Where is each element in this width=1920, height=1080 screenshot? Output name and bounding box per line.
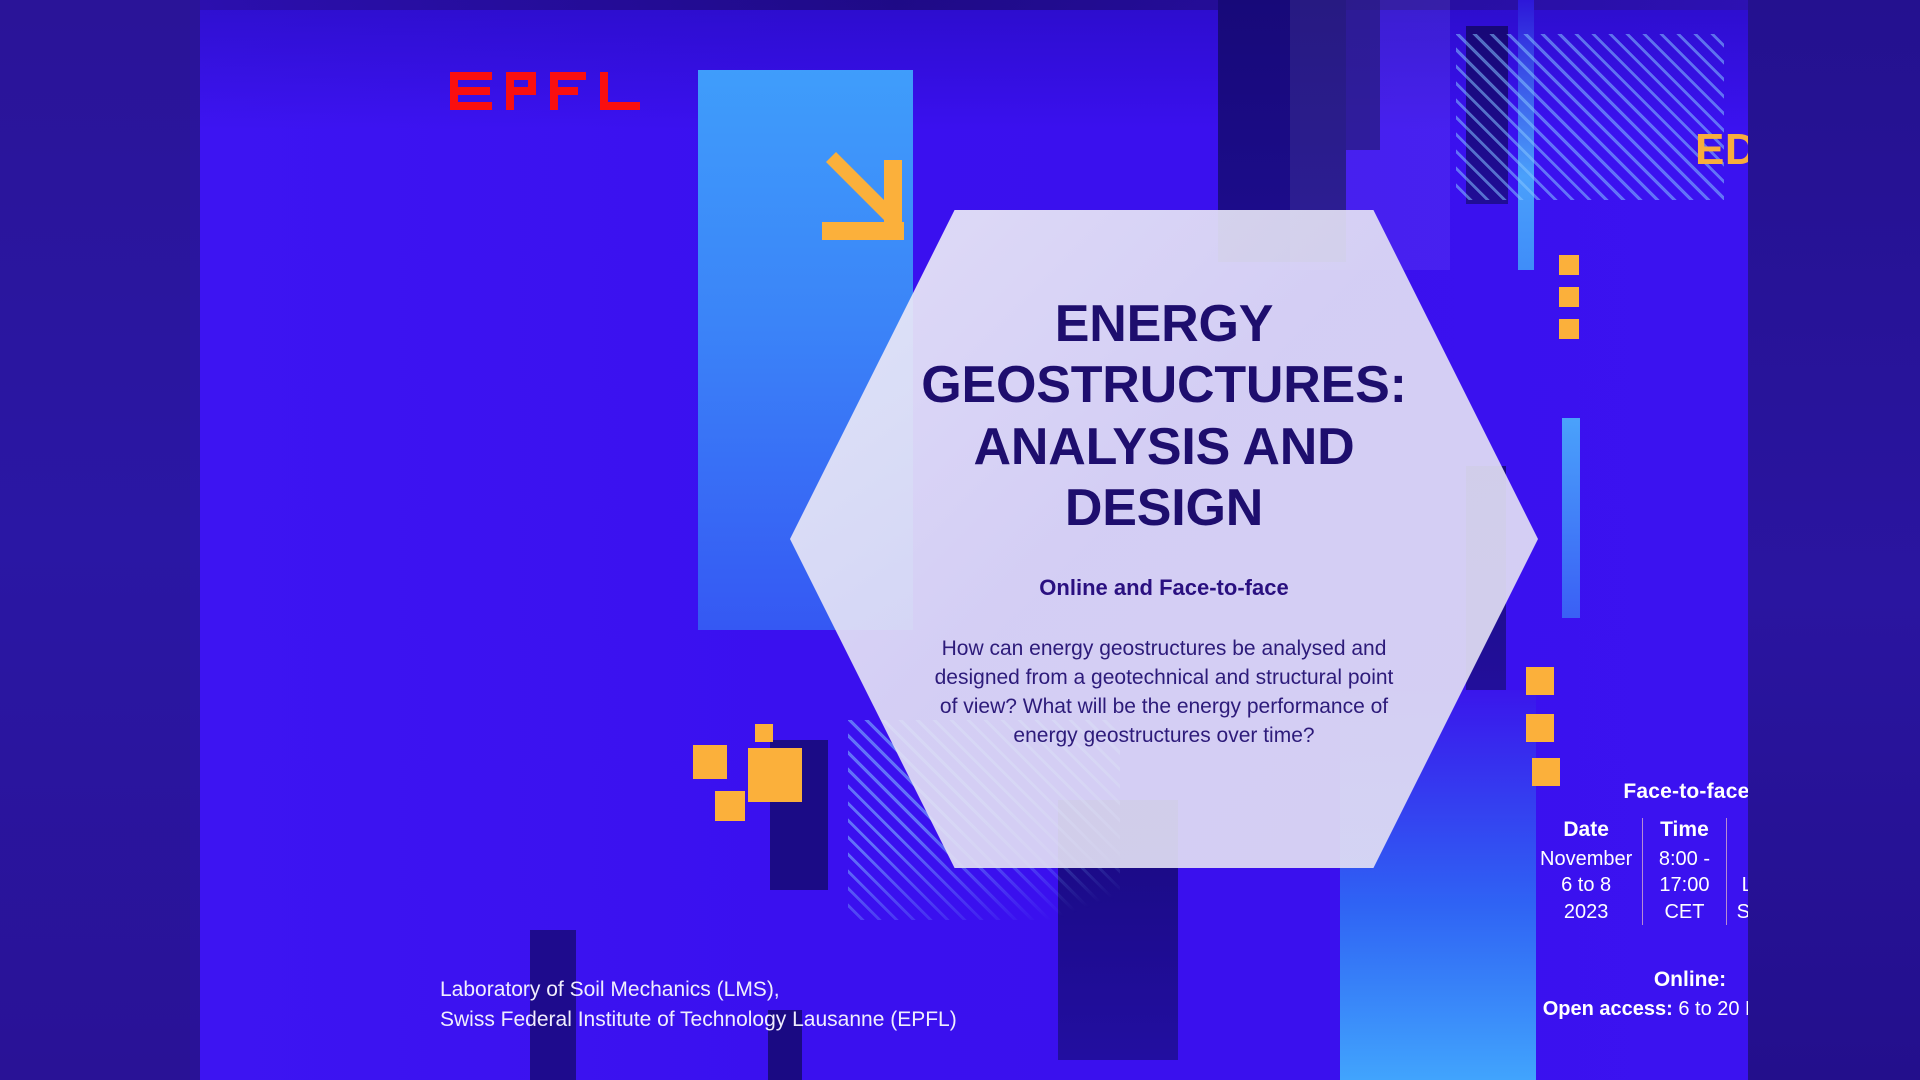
organiser-credit: Laboratory of Soil Mechanics (LMS), Swis… [440,975,957,1035]
deco-square-right-1 [1559,255,1579,275]
online-access-line: Open access: 6 to 20 November [1530,998,1748,1021]
info-column-date: Date November6 to 8 2023 [1530,818,1642,925]
event-description: How can energy geostructures be analysed… [934,635,1394,751]
info-column-time: Time 8:00 -17:00CET [1642,818,1725,925]
poster-stage: 5th EDITION ENERGY GEOSTRUCTURES: A [0,0,1920,1080]
online-access-value: 6 to 20 November [1678,998,1748,1020]
info-value-time: 8:00 -17:00CET [1659,846,1710,925]
info-label-date: Date [1563,818,1609,842]
deco-square-right-2 [1559,287,1579,307]
face-to-face-heading: Face-to-face: [1530,780,1748,804]
right-margin [1748,0,1920,1080]
epfl-logo [450,62,662,120]
top-strip [200,0,1748,10]
info-label-time: Time [1660,818,1709,842]
info-column-place: Place EPFLLausanne,Switzerland [1726,818,1748,925]
deco-square-left-2 [755,724,773,742]
face-to-face-panel: Face-to-face: Date November6 to 8 2023 T… [1530,780,1748,925]
poster-canvas: 5th EDITION ENERGY GEOSTRUCTURES: A [200,0,1748,1080]
organiser-line-1: Laboratory of Soil Mechanics (LMS), [440,975,957,1005]
info-value-date: November6 to 8 2023 [1540,846,1632,925]
info-value-place: EPFLLausanne,Switzerland [1737,846,1748,925]
online-panel: Online: Open access: 6 to 20 November [1530,968,1748,1021]
deco-square-right-4 [1526,667,1554,695]
online-heading: Online: [1530,968,1748,992]
edition-badge: 5th EDITION [1652,46,1748,198]
page-title: ENERGY GEOSTRUCTURES: ANALYSIS AND DESIG… [914,294,1414,539]
edition-word: EDITION [1695,127,1748,173]
deco-square-right-5 [1526,714,1554,742]
left-margin [0,0,200,1080]
deco-square-right-3 [1559,319,1579,339]
deco-square-left-3 [748,748,802,802]
event-format: Online and Face-to-face [1039,575,1288,601]
bg-blue-bar-b [1562,418,1580,618]
deco-square-left-1 [693,745,727,779]
online-access-label: Open access: [1543,998,1673,1020]
organiser-line-2: Swiss Federal Institute of Technology La… [440,1005,957,1035]
face-to-face-columns: Date November6 to 8 2023 Time 8:00 -17:0… [1530,818,1748,925]
down-right-arrow-icon [822,152,908,242]
deco-square-left-4 [715,791,745,821]
